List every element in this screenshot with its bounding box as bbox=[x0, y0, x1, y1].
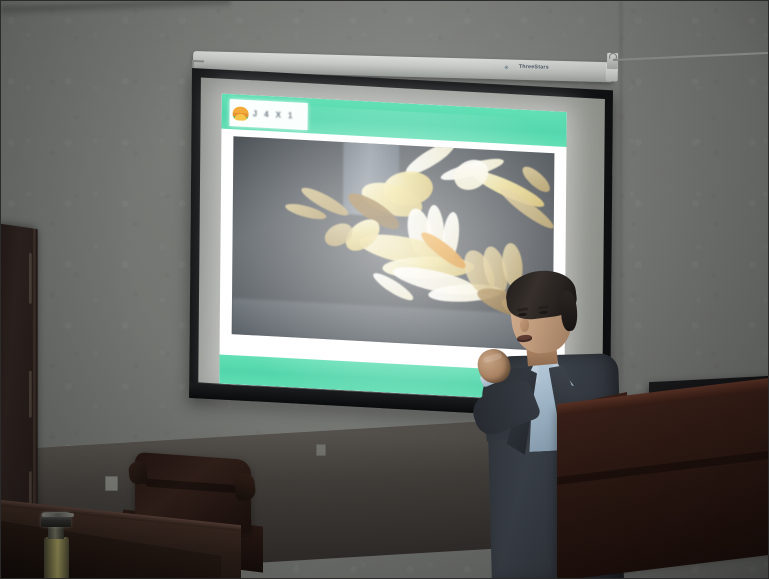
left-wood-cabinet bbox=[0, 223, 34, 523]
wooden-lectern bbox=[557, 386, 769, 579]
bottle-cap bbox=[41, 512, 71, 527]
presentation-photograph: ✳ ThreeStars J 4 X 1 bbox=[0, 0, 769, 579]
bottle-cap-rim bbox=[42, 513, 74, 517]
sunrise-logo-icon bbox=[233, 106, 249, 121]
bottle-body bbox=[44, 537, 69, 579]
slide-logo-box: J 4 X 1 bbox=[230, 99, 308, 130]
cabinet-edge bbox=[33, 229, 37, 518]
cabinet-highlight bbox=[29, 253, 32, 303]
brand-star-icon: ✳ bbox=[504, 66, 509, 71]
presenter-nose bbox=[520, 319, 529, 332]
wall-power-outlet bbox=[105, 476, 118, 491]
bottle-neck bbox=[48, 526, 64, 539]
screen-brand-label: ThreeStars bbox=[519, 64, 549, 71]
slide-logo-text: J 4 X 1 bbox=[253, 109, 295, 120]
chair-finial bbox=[234, 473, 257, 501]
cabinet-highlight bbox=[29, 371, 32, 417]
glass-water-bottle bbox=[39, 512, 73, 579]
wall-power-outlet bbox=[316, 444, 326, 456]
chair-finial bbox=[128, 461, 148, 485]
lectern-panel-seam bbox=[557, 450, 769, 485]
